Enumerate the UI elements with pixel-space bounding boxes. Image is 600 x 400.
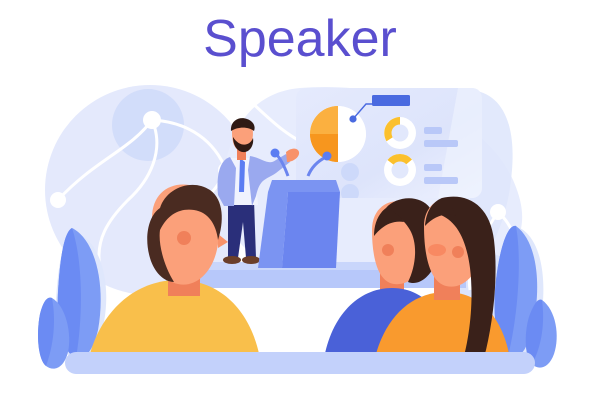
connector-dot-4 xyxy=(236,87,254,105)
speaker-shoe-right xyxy=(242,256,260,264)
connector-dot-2 xyxy=(143,111,161,129)
donut-chart-1 xyxy=(384,117,416,149)
podium-top xyxy=(268,180,340,192)
text-bar-2a xyxy=(424,164,442,171)
podium-body xyxy=(282,192,340,268)
microphone-head-1 xyxy=(271,149,280,158)
bottom-bar xyxy=(65,352,535,374)
page-title: Speaker xyxy=(203,10,397,68)
callout-dot xyxy=(349,115,356,122)
speaker-shoe-left xyxy=(223,256,241,264)
text-bar-1a xyxy=(424,127,442,134)
text-bar-1b xyxy=(424,140,458,147)
audience-left-ear xyxy=(177,231,191,245)
screen-circle-1 xyxy=(341,163,359,181)
connector-dot-5 xyxy=(490,204,506,220)
audience-right-blush xyxy=(428,244,446,256)
microphone-head-2 xyxy=(323,152,332,161)
speaker-illustration: Speaker xyxy=(0,0,600,400)
donut-chart-2 xyxy=(384,154,416,186)
audience-center-ear xyxy=(382,244,394,256)
speaker-tie xyxy=(239,158,245,192)
speaker-legs xyxy=(228,200,256,258)
audience-right-ear xyxy=(452,246,464,258)
connector-dot-1 xyxy=(50,192,66,208)
text-bar-2b xyxy=(424,177,458,184)
chart-callout-label xyxy=(372,95,410,106)
